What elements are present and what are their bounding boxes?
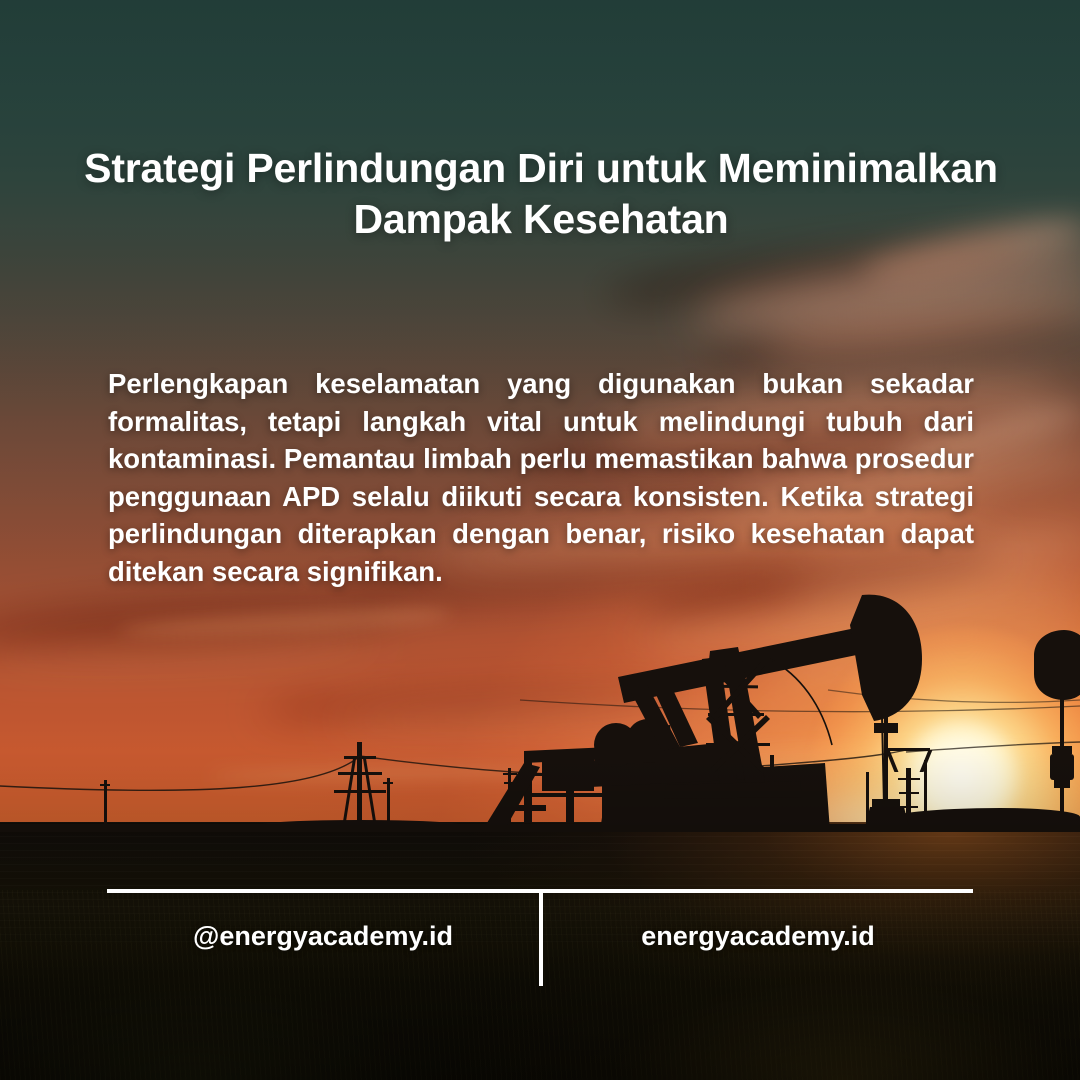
social-handle: @energyacademy.id <box>107 921 539 952</box>
body-paragraph: Perlengkapan keselamatan yang digunakan … <box>108 365 974 590</box>
website-url: energyacademy.id <box>543 921 973 952</box>
social-media-poster: Strategi Perlindungan Diri untuk Meminim… <box>0 0 1080 1080</box>
page-title: Strategi Perlindungan Diri untuk Meminim… <box>50 143 1032 245</box>
